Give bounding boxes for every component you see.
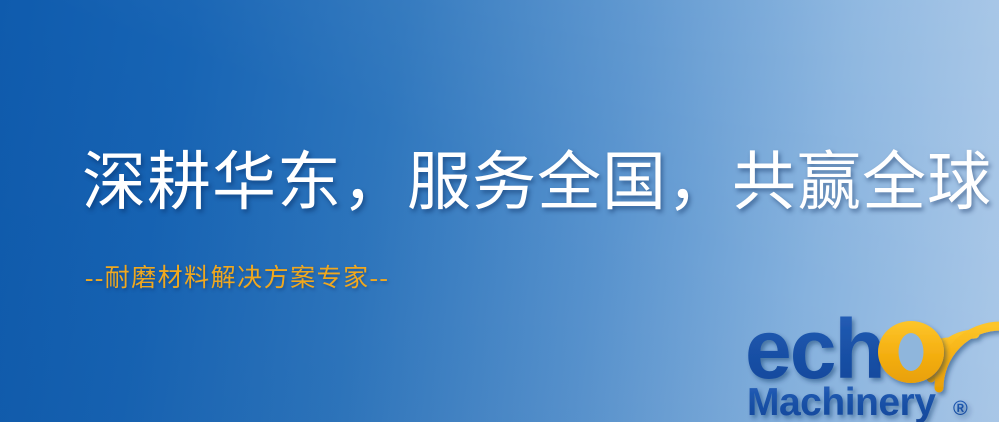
banner-headline: 深耕华东，服务全国，共赢全球 [82,151,992,215]
logo-wordmark-o [878,321,944,383]
hero-banner: 深耕华东，服务全国，共赢全球 --耐磨材料解决方案专家-- [0,0,999,422]
echo-machinery-logo[interactable]: ech Machinery ® [745,296,999,422]
banner-subheadline: --耐磨材料解决方案专家-- [85,266,389,291]
logo-tagline: Machinery [747,381,936,422]
logo-registered-mark: ® [953,398,968,420]
